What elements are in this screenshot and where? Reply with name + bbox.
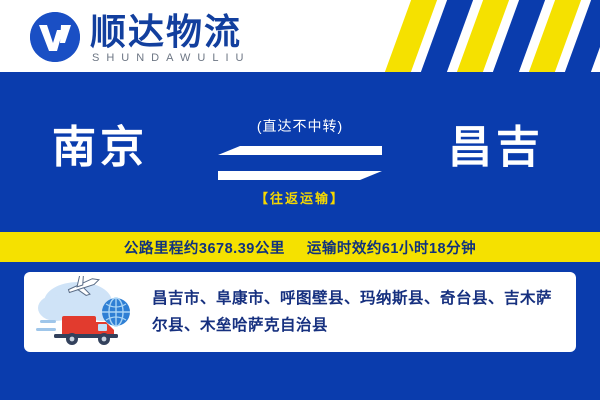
swoosh-logo-icon: [30, 12, 80, 62]
duration-label: 运输时效约61小时18分钟: [307, 237, 476, 258]
truck-globe-plane-icon: [36, 276, 148, 350]
coverage-cities: 昌吉市、阜康市、呼图壁县、玛纳斯县、奇台县、吉木萨尔县、木垒哈萨克自治县: [152, 285, 562, 339]
logistics-route-poster: 顺达物流 SHUNDAWULIU 南京 (直达不中转) 【往返运输】 昌吉 公路…: [0, 0, 600, 400]
route-panel: 南京 (直达不中转) 【往返运输】 昌吉: [0, 72, 600, 232]
logo-company-name: 顺达物流: [90, 12, 242, 52]
metrics-band: 公路里程约3678.39公里 运输时效约61小时18分钟: [0, 232, 600, 262]
coverage-card: 昌吉市、阜康市、呼图壁县、玛纳斯县、奇台县、吉木萨尔县、木垒哈萨克自治县: [24, 272, 576, 352]
distance-label: 公路里程约3678.39公里: [124, 237, 285, 258]
double-arrow-icon: [218, 146, 382, 180]
coverage-panel: 昌吉市、阜康市、呼图壁县、玛纳斯县、奇台县、吉木萨尔县、木垒哈萨克自治县: [0, 262, 600, 400]
destination-city: 昌吉: [448, 122, 544, 174]
header-stripes: [370, 0, 600, 72]
logo-company-pinyin: SHUNDAWULIU: [92, 52, 251, 64]
roundtrip-note: 【往返运输】: [0, 188, 600, 207]
header: 顺达物流 SHUNDAWULIU: [0, 0, 600, 72]
